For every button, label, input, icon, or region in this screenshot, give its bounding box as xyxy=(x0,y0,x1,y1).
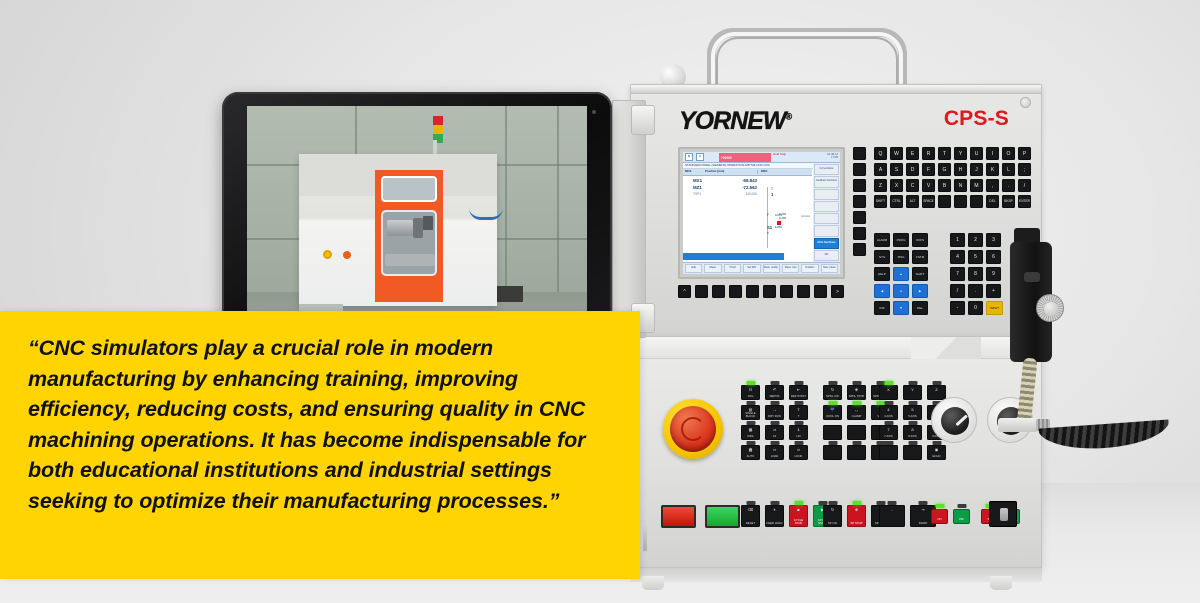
key-num-6[interactable]: 6 xyxy=(986,250,1001,264)
machine-base xyxy=(630,568,1042,582)
camera-icon xyxy=(592,110,596,114)
key-spare-2[interactable] xyxy=(847,425,866,440)
key-override-minus[interactable]: - xyxy=(879,505,905,527)
arrow-right-icon[interactable]: ▶ xyxy=(912,284,928,298)
key-axis-4[interactable]: 44 AXIS xyxy=(879,405,898,420)
led-indicator xyxy=(908,401,917,405)
handwheel-dial[interactable] xyxy=(1036,294,1064,322)
key-l[interactable]: L xyxy=(1002,163,1015,176)
panel-bevel-notch xyxy=(911,337,981,359)
key-f[interactable]: F xyxy=(922,163,935,176)
key-offset[interactable] xyxy=(853,195,866,208)
key-z[interactable]: Z xyxy=(874,179,887,192)
sp-cw-icon: ↻ xyxy=(824,508,841,512)
key-single-block[interactable]: ▤SINGLE BLOCK xyxy=(741,405,760,420)
key-space[interactable]: SPACE xyxy=(922,195,935,208)
led-indicator xyxy=(828,381,837,385)
clock-date: 17/06 xyxy=(827,156,838,159)
cnc-column-headers: MCS Position [mm] DRO xyxy=(683,169,812,176)
softkey-tsm[interactable]: T,S,M xyxy=(724,264,741,273)
numpad-row-2[interactable]: 4 5 6 xyxy=(950,250,1003,264)
alarm-banner: 700000 xyxy=(719,153,771,162)
softkey-blank-4[interactable] xyxy=(814,225,839,236)
key-num-7[interactable]: 7 xyxy=(950,267,965,281)
cycle-stop-icon: ■ xyxy=(790,508,807,512)
key-del-2[interactable]: DEL xyxy=(912,301,928,315)
key-blank-3[interactable] xyxy=(970,195,983,208)
spindle-label-text: S1 xyxy=(767,225,772,230)
key-clamp[interactable]: ◡CLAMP xyxy=(847,405,866,420)
key-sp-stop[interactable]: ⎈SP STOP xyxy=(847,505,866,527)
brand-trademark-icon: ® xyxy=(786,112,792,122)
clamp-icon: ◡ xyxy=(848,408,865,412)
axis-name: MX1 xyxy=(685,178,707,184)
numpad-row-5[interactable]: - 0 INPUT xyxy=(950,301,1003,315)
axis-x-label: X xyxy=(880,388,897,392)
key-w[interactable]: W xyxy=(890,147,903,160)
vertical-softkey-column[interactable]: G Functions Auxiliary functions All G fu… xyxy=(813,163,840,262)
operator-panel: ☷JOG ↶REPOS ⇤REF POINT ▤SINGLE BLOCK →DR… xyxy=(630,336,1042,568)
softkey-edit[interactable]: Edit xyxy=(685,264,702,273)
softkey-blank-1[interactable] xyxy=(814,189,839,200)
navigation-keypad[interactable]: ALARM PROG OFFS SYS MSG CSTM HELP ▲ SHIF… xyxy=(874,233,928,315)
softkey-set-wo[interactable]: Set WO xyxy=(743,264,760,273)
mode-key-matrix[interactable]: ☷JOG ↶REPOS ⇤REF POINT ▤SINGLE BLOCK →DR… xyxy=(741,385,808,460)
key-h[interactable]: H xyxy=(954,163,967,176)
key-feed-hold[interactable]: ⏸FEED HOLD xyxy=(765,505,784,527)
navpad-row-1[interactable]: ALARM PROG OFFS xyxy=(874,233,928,247)
led-indicator xyxy=(884,401,893,405)
foot-left xyxy=(642,576,664,590)
tablet-mounting-arm xyxy=(612,100,646,338)
key-g[interactable]: G xyxy=(938,163,951,176)
axis-row-1[interactable]: X Y Z xyxy=(879,385,946,400)
key-prog[interactable] xyxy=(853,179,866,192)
led-indicator xyxy=(770,501,779,505)
led-indicator xyxy=(746,441,755,445)
key-offs[interactable]: OFFS xyxy=(912,233,928,247)
key-look[interactable]: ⇨LOOK xyxy=(789,445,808,460)
mode-row-3[interactable]: ▦MDA ⇒LS ⇓LDI xyxy=(741,425,808,440)
navpad-row-3[interactable]: HELP ▲ SHIFT xyxy=(874,267,928,281)
knob-pointer xyxy=(955,415,967,427)
softkey-hw-6[interactable] xyxy=(780,285,793,298)
key-spare-5[interactable] xyxy=(847,445,866,460)
led-indicator xyxy=(770,421,779,425)
key-y[interactable]: Y xyxy=(954,147,967,160)
led-indicator xyxy=(746,401,755,405)
key-mda[interactable]: ▦MDA xyxy=(741,425,760,440)
key-k[interactable]: K xyxy=(986,163,999,176)
key-alt[interactable]: ALT xyxy=(906,195,919,208)
arrow-left-icon[interactable]: ◀ xyxy=(874,284,890,298)
key-m[interactable] xyxy=(853,147,866,160)
axis-7-icon: 7 xyxy=(880,428,897,432)
key-c[interactable]: C xyxy=(906,179,919,192)
emergency-stop-button[interactable] xyxy=(663,399,723,459)
key-delete[interactable]: DEL xyxy=(986,195,999,208)
key-coolant-on[interactable]: ☔COOL ON xyxy=(823,405,842,420)
key-dry-run[interactable]: →DRY RUN xyxy=(765,405,784,420)
keyboard-row-3[interactable]: Z X C V B N M , . / xyxy=(874,179,1031,192)
key-slash-2[interactable]: / xyxy=(950,284,965,298)
led-indicator xyxy=(828,441,837,445)
key-axis-y[interactable]: Y xyxy=(903,385,922,400)
mode-row-4[interactable]: ▩AUTO ⇨LOAD ⇨LOOK xyxy=(741,445,808,460)
led-indicator xyxy=(746,421,755,425)
key-echo[interactable]: ◉ECHO xyxy=(927,445,946,460)
key-msg[interactable]: MSG xyxy=(893,250,909,264)
key-r[interactable]: R xyxy=(922,147,935,160)
simulated-cnc-machine xyxy=(299,154,497,306)
navpad-row-2[interactable]: SYS MSG CSTM xyxy=(874,250,928,264)
cnc-status-bar: M C 700000 Hold Stop 10:48:12 17/06 xyxy=(683,152,840,163)
key-help[interactable]: HELP xyxy=(874,267,890,281)
key-t[interactable]: T xyxy=(938,147,951,160)
softkey-hw-4[interactable] xyxy=(746,285,759,298)
keyboard-row-1[interactable]: Q W E R T Y U I O P xyxy=(874,147,1031,160)
key-u[interactable]: U xyxy=(970,147,983,160)
key-x[interactable]: X xyxy=(890,179,903,192)
key-ldi[interactable]: ⇓LDI xyxy=(789,425,808,440)
key-ctrl[interactable]: CTRL xyxy=(890,195,903,208)
cycle-start-button[interactable] xyxy=(661,505,696,528)
single-block-icon: ▤ xyxy=(742,408,759,412)
led-indicator xyxy=(794,441,803,445)
rapid-override-row[interactable]: - ⇝RAPID xyxy=(879,505,936,527)
col-mcs: MCS xyxy=(683,170,705,174)
key-ref-point[interactable]: ⇤REF POINT xyxy=(789,385,808,400)
look-icon: ⇨ xyxy=(790,448,807,452)
softkey-hw-3[interactable] xyxy=(729,285,742,298)
led-indicator xyxy=(828,401,837,405)
tool-value: 1 xyxy=(771,192,819,198)
led-indicator xyxy=(828,501,837,505)
key-axis-8[interactable]: 88 AXIS xyxy=(903,425,922,440)
col-dro: DRO xyxy=(757,170,812,174)
key-num-9[interactable]: 9 xyxy=(986,267,1001,281)
tool-panel: T 1 xyxy=(767,187,819,248)
selection-highlight-bar xyxy=(683,253,784,260)
cnc-simulator-machine: YORNEW® CPS-S M C 700000 Hold Stop 10:48… xyxy=(612,20,1042,580)
estop-mushroom[interactable] xyxy=(670,406,716,452)
spindle-cw-icon: ↻ xyxy=(824,388,841,392)
carry-handle xyxy=(707,20,907,90)
tablet-screen[interactable] xyxy=(247,106,587,328)
key-spindle-cw[interactable]: ↻SPDL CW xyxy=(823,385,842,400)
key-blank-2[interactable] xyxy=(954,195,967,208)
mda-icon: ▦ xyxy=(742,428,759,432)
key-insert[interactable]: INS xyxy=(874,301,890,315)
arm-clamp-top xyxy=(631,105,655,135)
spindle-label: S1 xyxy=(767,225,772,230)
led-indicator xyxy=(884,421,893,425)
key-d[interactable]: D xyxy=(906,163,919,176)
led-indicator xyxy=(818,501,827,505)
echo-icon: ◉ xyxy=(928,448,945,452)
key-jog[interactable]: ☷JOG xyxy=(741,385,760,400)
key-switch[interactable] xyxy=(989,501,1017,527)
spindle-stop-icon: ⎈ xyxy=(848,388,865,392)
key-alarm-2[interactable]: ALARM xyxy=(874,233,890,247)
axis-8-icon: 8 xyxy=(904,428,921,432)
led-indicator xyxy=(919,501,928,505)
softkey-meas-workpiece[interactable]: Meas. workp. xyxy=(763,264,780,273)
key-n[interactable]: N xyxy=(954,179,967,192)
cnc-body: MCS Position [mm] DRO MX1 -58.843 MZ1 -7… xyxy=(683,169,812,262)
softkey-hw-8[interactable] xyxy=(814,285,827,298)
key-num-3[interactable]: 3 xyxy=(986,233,1001,247)
feedrate-override-knob[interactable] xyxy=(931,397,977,443)
key-b[interactable]: B xyxy=(938,179,951,192)
led-indicator xyxy=(852,501,861,505)
handwheel-pendant[interactable] xyxy=(1010,242,1070,382)
led-indicator xyxy=(884,441,893,445)
feed-hold-icon: ⏸ xyxy=(766,508,783,512)
tablet-display-assembly xyxy=(222,92,630,342)
led-indicator xyxy=(884,381,893,385)
key-spare-4[interactable] xyxy=(823,445,842,460)
button-on[interactable]: ON xyxy=(931,509,948,524)
machine-bed xyxy=(385,254,435,266)
led-indicator xyxy=(876,501,885,505)
horizontal-softkey-bar[interactable]: Edit Meas. T,S,M Set WO Meas. workp. Mea… xyxy=(683,262,840,274)
axis-row: MX1 -58.843 xyxy=(685,178,812,184)
softkey-meas[interactable]: Meas. xyxy=(704,264,721,273)
axis-value: -58.843 xyxy=(707,178,757,184)
key-select[interactable] xyxy=(853,243,866,256)
key-i[interactable]: I xyxy=(986,147,999,160)
axis-z-label: Z xyxy=(928,388,945,392)
key-semicolon[interactable]: ; xyxy=(1018,163,1031,176)
key-cycle-stop[interactable]: ■CYCLE STOP xyxy=(789,505,808,527)
tower-amber-lamp xyxy=(433,125,443,134)
led-indicator xyxy=(888,501,897,505)
led-indicator xyxy=(908,441,917,445)
led-indicator xyxy=(746,501,755,505)
key-cursor[interactable] xyxy=(853,227,866,240)
reset-icon: ⌫ xyxy=(742,508,759,512)
arrow-down-icon[interactable]: ▼ xyxy=(893,301,909,315)
button-off[interactable]: OFF xyxy=(953,509,970,524)
sp-stop-icon: ⎈ xyxy=(848,508,865,512)
key-num-1[interactable]: 1 xyxy=(950,233,965,247)
open-quote-mark: “ xyxy=(28,336,39,360)
key-slash[interactable]: / xyxy=(1018,179,1031,192)
mode-row-1[interactable]: ☷JOG ↶REPOS ⇤REF POINT xyxy=(741,385,808,400)
key-repos[interactable]: ↶REPOS xyxy=(765,385,784,400)
softkey-menu-back-icon[interactable]: ^ xyxy=(678,285,691,298)
key-plus[interactable]: + xyxy=(986,284,1001,298)
machine-mode-icon: M xyxy=(685,153,693,161)
key-comma[interactable]: , xyxy=(986,179,999,192)
feed-units: mm/min xyxy=(801,215,810,218)
bottom-key-row[interactable]: ⌫RESET ⏸FEED HOLD ■CYCLE STOP ▶CYCLE STA… xyxy=(741,505,832,527)
softkey-auxiliary-functions[interactable]: Auxiliary functions xyxy=(814,176,839,187)
machine-yellow-button xyxy=(323,250,332,259)
key-v[interactable]: V xyxy=(922,179,935,192)
led-indicator xyxy=(852,401,861,405)
key-axis-5[interactable]: 55 AXIS xyxy=(903,405,922,420)
led-indicator xyxy=(770,441,779,445)
machine-orange-button xyxy=(343,251,351,259)
softkey-blank-3[interactable] xyxy=(814,213,839,224)
key-num-0[interactable]: 0 xyxy=(968,301,983,315)
col-position: Position [mm] xyxy=(705,170,757,174)
channel-icon: C xyxy=(696,153,704,161)
key-axis-z[interactable]: Z xyxy=(927,385,946,400)
key-decimal[interactable]: . xyxy=(968,284,983,298)
softkey-hw-2[interactable] xyxy=(712,285,725,298)
estop-rotate-arrow-icon xyxy=(681,417,705,441)
key-shift[interactable]: SHIFT xyxy=(874,195,887,208)
spindle-sub: 0 xyxy=(767,232,769,236)
key-minus[interactable]: - xyxy=(950,301,965,315)
key-num-5[interactable]: 5 xyxy=(968,250,983,264)
key-m-letter[interactable]: M xyxy=(970,179,983,192)
screw-icon xyxy=(1020,97,1031,108)
key-o[interactable]: O xyxy=(1002,147,1015,160)
cnc-display[interactable]: M C 700000 Hold Stop 10:48:12 17/06 STAN… xyxy=(683,152,840,274)
spindle-percent: 110% xyxy=(775,226,782,229)
key-blank-1[interactable] xyxy=(938,195,951,208)
function-key-column[interactable] xyxy=(853,147,866,256)
key-tool[interactable]: TT xyxy=(789,405,808,420)
softkey-g-functions[interactable]: G Functions xyxy=(814,164,839,175)
softkey-hw-5[interactable] xyxy=(763,285,776,298)
key-auto[interactable]: ▩AUTO xyxy=(741,445,760,460)
keyboard-row-2[interactable]: A S D F G H J K L ; xyxy=(874,163,1031,176)
axis-name: MZ1 xyxy=(685,185,707,191)
led-indicator xyxy=(935,504,944,508)
softkey-all-g-functions[interactable]: All G functions xyxy=(814,238,839,249)
key-q[interactable]: Q xyxy=(874,147,887,160)
key-shift-2[interactable]: SHIFT xyxy=(912,267,928,281)
numeric-keypad[interactable]: 1 2 3 4 5 6 7 8 9 / . + - 0 INPU xyxy=(950,233,1003,315)
key-num-2[interactable]: 2 xyxy=(968,233,983,247)
led-indicator xyxy=(957,504,966,508)
ldi-icon: ⇓ xyxy=(790,428,807,432)
key-p[interactable]: P xyxy=(1018,147,1031,160)
chuck xyxy=(413,218,423,238)
key-ls[interactable]: ⇒LS xyxy=(765,425,784,440)
arrow-up-icon[interactable]: ▲ xyxy=(893,267,909,281)
key-alarm[interactable] xyxy=(853,163,866,176)
led-indicator xyxy=(908,421,917,425)
key-enter[interactable]: ENTER xyxy=(1018,195,1031,208)
led-indicator xyxy=(770,381,779,385)
key-sys[interactable]: SYS xyxy=(874,250,890,264)
led-indicator xyxy=(932,441,941,445)
numpad-row-1[interactable]: 1 2 3 xyxy=(950,233,1003,247)
axis-y-label: Y xyxy=(904,388,921,392)
mode-row-2[interactable]: ▤SINGLE BLOCK →DRY RUN TT xyxy=(741,405,808,420)
axis-name: TSP1 xyxy=(685,192,707,196)
minus-icon: - xyxy=(880,508,904,512)
led-indicator xyxy=(852,381,861,385)
key-axis-spare-2[interactable] xyxy=(903,445,922,460)
softkey-ok[interactable]: OK xyxy=(814,250,839,261)
key-j[interactable]: J xyxy=(970,163,983,176)
led-indicator xyxy=(908,381,917,385)
softkey-meas-tool[interactable]: Meas. tool xyxy=(782,264,799,273)
panel-bevel xyxy=(631,337,1041,359)
key-sp-cw[interactable]: ↻SP CW xyxy=(823,505,842,527)
key-e[interactable]: E xyxy=(906,147,919,160)
axis-5-icon: 5 xyxy=(904,408,921,412)
key-num-8[interactable]: 8 xyxy=(968,267,983,281)
numpad-row-4[interactable]: / . + xyxy=(950,284,1003,298)
key-axis-spare-1[interactable] xyxy=(879,445,898,460)
close-quote-mark: .” xyxy=(543,489,560,513)
cycle-stop-button[interactable] xyxy=(705,505,740,528)
screen-softkey-row[interactable]: ^ > xyxy=(678,285,844,298)
led-indicator xyxy=(794,501,803,505)
key-page[interactable] xyxy=(853,211,866,224)
key-load[interactable]: ⇨LOAD xyxy=(765,445,784,460)
head-top-rail xyxy=(631,85,1041,94)
keyboard-row-4[interactable]: SHIFT CTRL ALT SPACE DEL BKSP ENTER xyxy=(874,195,1031,208)
softkey-menu-forward-icon[interactable]: > xyxy=(831,285,844,298)
qwerty-keyboard[interactable]: Q W E R T Y U I O P A S D F G H J K L xyxy=(874,147,1031,208)
model-label: CPS-S xyxy=(944,107,1009,131)
brand-logo-text: YORNEW xyxy=(679,107,786,135)
key-cstm[interactable]: CSTM xyxy=(912,250,928,264)
machine-work-window xyxy=(381,210,437,276)
key-period[interactable]: . xyxy=(1002,179,1015,192)
key-reset[interactable]: ⌫RESET xyxy=(741,505,760,527)
clock: 10:48:12 17/06 xyxy=(827,153,838,159)
led-indicator xyxy=(794,401,803,405)
key-axis-7[interactable]: 77 AXIS xyxy=(879,425,898,440)
navpad-row-5[interactable]: INS ▼ DEL xyxy=(874,301,928,315)
cutting-tool xyxy=(423,216,433,230)
key-input[interactable]: INPUT xyxy=(986,301,1003,315)
ls-icon: ⇒ xyxy=(766,428,783,432)
dry-run-icon: → xyxy=(766,408,783,412)
key-backspace[interactable]: BKSP xyxy=(1002,195,1015,208)
softkey-blank-2[interactable] xyxy=(814,201,839,212)
tool-label: T xyxy=(771,187,819,191)
select-key[interactable]: ● xyxy=(893,284,909,298)
led-indicator xyxy=(794,381,803,385)
feed-label: F xyxy=(767,213,769,217)
pendant-selector-switch[interactable] xyxy=(1024,272,1040,282)
key-prog-2[interactable]: PROG xyxy=(893,233,909,247)
load-icon: ⇨ xyxy=(766,448,783,452)
softkey-swivel-plane[interactable]: Swiv. plane xyxy=(821,264,838,273)
key-num-4[interactable]: 4 xyxy=(950,250,965,264)
axis-row-4[interactable]: ◉ECHO xyxy=(879,445,946,460)
brand-logo: YORNEW® xyxy=(679,107,791,136)
key-spindle-stop[interactable]: ⎈SPDL STOP xyxy=(847,385,866,400)
key-shaft xyxy=(643,525,647,551)
softkey-hw-7[interactable] xyxy=(797,285,810,298)
key-s[interactable]: S xyxy=(890,163,903,176)
softkey-position[interactable]: Position xyxy=(801,264,818,273)
led-indicator xyxy=(932,381,941,385)
repos-icon: ↶ xyxy=(766,388,783,392)
key-axis-x[interactable]: X xyxy=(879,385,898,400)
knob-cap xyxy=(941,407,969,435)
led-indicator xyxy=(852,441,861,445)
navpad-row-4[interactable]: ◀ ● ▶ xyxy=(874,284,928,298)
softkey-hw-1[interactable] xyxy=(695,285,708,298)
jog-icon: ☷ xyxy=(742,388,759,392)
key-spare-1[interactable] xyxy=(823,425,842,440)
key-a[interactable]: A xyxy=(874,163,887,176)
numpad-row-3[interactable]: 7 8 9 xyxy=(950,267,1003,281)
